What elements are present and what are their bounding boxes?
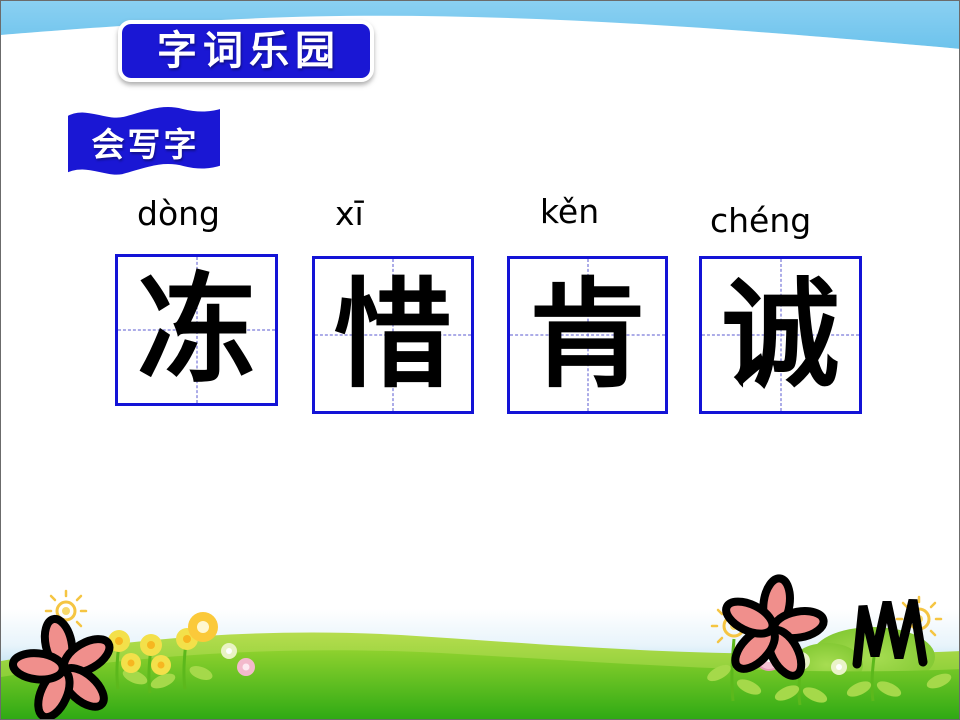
subtitle-banner: 会写字 — [61, 100, 227, 184]
pinyin-label-4: chéng — [710, 204, 811, 237]
pinyin-label-1: dòng — [137, 197, 220, 230]
character-grid-box-1: 冻 — [115, 254, 278, 406]
hanzi-glyph-1: 冻 — [118, 257, 275, 403]
character-grid-box-3: 肯 — [507, 256, 668, 414]
character-grid-box-2: 惜 — [312, 256, 474, 414]
hanzi-glyph-4: 诚 — [702, 259, 859, 411]
slide-canvas: 字词乐园 会写字 dòng 冻 xī 惜 kěn 肯 — [0, 0, 960, 720]
wavy-ribbon-graphic — [61, 100, 227, 184]
meadow-graphic — [1, 569, 960, 719]
ground-decoration — [1, 569, 960, 719]
hanzi-glyph-3: 肯 — [510, 259, 665, 411]
hanzi-glyph-2: 惜 — [315, 259, 471, 411]
pinyin-label-3: kěn — [540, 195, 599, 228]
pinyin-label-2: xī — [335, 197, 364, 230]
title-banner: 字词乐园 — [118, 20, 374, 82]
title-banner-label: 字词乐园 — [151, 31, 341, 71]
character-grid-box-4: 诚 — [699, 256, 862, 414]
